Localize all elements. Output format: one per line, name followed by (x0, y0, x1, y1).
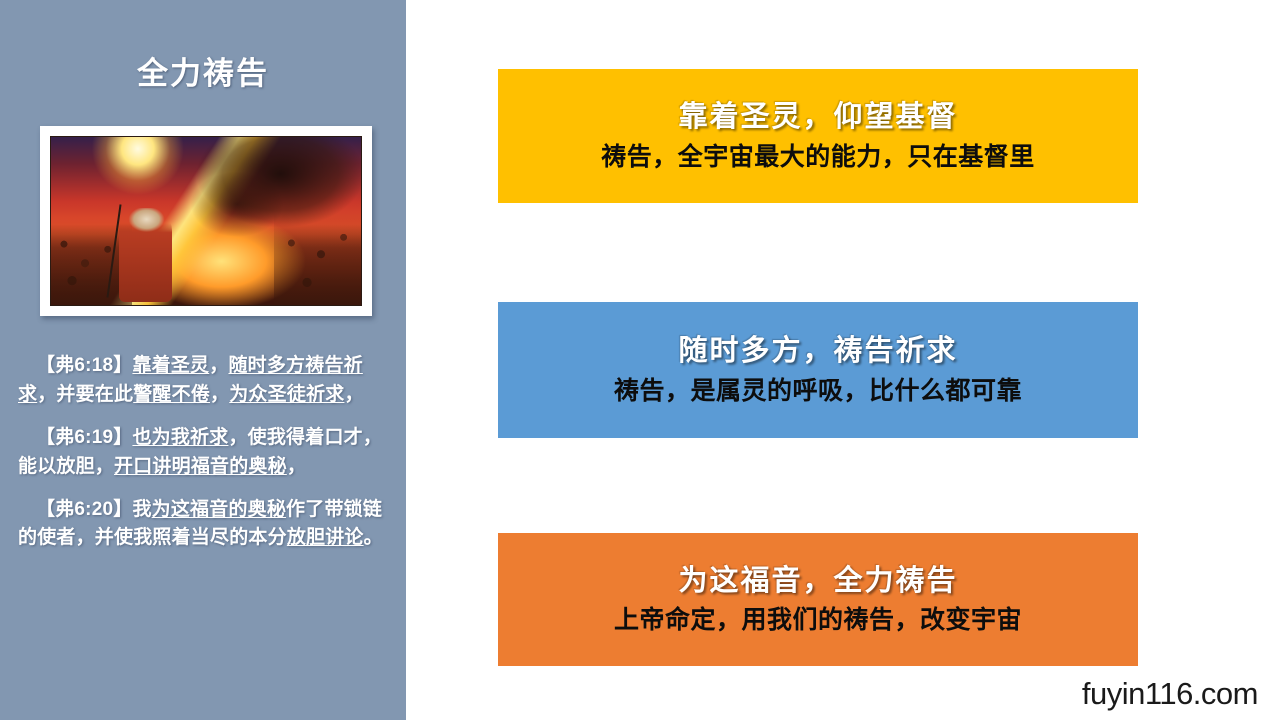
elijah-fire-from-heaven-image (50, 136, 362, 306)
scripture-reference: 【弗6:18】 (36, 355, 132, 376)
scripture-emphasis: 也为我祈求 (132, 427, 228, 448)
scripture-text-block: 【弗6:18】靠着圣灵，随时多方祷告祈求，并要在此警醒不倦，为众圣徒祈求，【弗6… (18, 352, 390, 553)
banner-heading: 随时多方，祷告祈求 (678, 333, 957, 369)
banner-subtext: 祷告，全宇宙最大的能力，只在基督里 (601, 142, 1035, 173)
scripture-reference: 【弗6:20】 (36, 499, 132, 520)
scripture-verse: 【弗6:19】也为我祈求，使我得着口才，能以放胆，开口讲明福音的奥秘， (18, 424, 390, 482)
scripture-span: ， (209, 355, 228, 376)
scripture-emphasis: 靠着圣灵 (132, 355, 209, 376)
scripture-span: 。 (364, 527, 383, 548)
scripture-span: ， (344, 384, 363, 405)
prophet-figure-icon (119, 208, 172, 302)
scripture-emphasis: 警醒不倦 (133, 384, 210, 405)
scripture-emphasis: 开口讲明福音的奥秘 (114, 456, 287, 477)
scripture-emphasis: 放胆讲论 (287, 527, 364, 548)
scripture-emphasis: 为众圣徒祈求 (229, 384, 344, 405)
banner-heading: 靠着圣灵，仰望基督 (678, 99, 957, 135)
site-watermark: fuyin116.com (1082, 676, 1258, 712)
banner-subtext: 祷告，是属灵的呼吸，比什么都可靠 (614, 376, 1022, 407)
scripture-span: 我 (132, 499, 151, 520)
banner-subtext: 上帝命定，用我们的祷告，改变宇宙 (614, 605, 1022, 636)
scripture-span: ， (210, 384, 229, 405)
scripture-span: ， (287, 456, 306, 477)
banner-heading: 为这福音，全力祷告 (678, 563, 957, 599)
banner-always-pray: 随时多方，祷告祈求 祷告，是属灵的呼吸，比什么都可靠 (498, 302, 1138, 438)
page-title: 全力祷告 (0, 0, 406, 89)
banner-gospel-pray: 为这福音，全力祷告 上帝命定，用我们的祷告，改变宇宙 (498, 533, 1138, 666)
scripture-verse: 【弗6:20】我为这福音的奥秘作了带锁链的使者，并使我照着当尽的本分放胆讲论。 (18, 496, 390, 554)
scripture-span: ，并要在此 (37, 384, 133, 405)
scripture-reference: 【弗6:19】 (36, 427, 132, 448)
banner-spirit-christ: 靠着圣灵，仰望基督 祷告，全宇宙最大的能力，只在基督里 (498, 69, 1138, 203)
scripture-emphasis: 为这福音的奥秘 (152, 499, 286, 520)
scripture-verse: 【弗6:18】靠着圣灵，随时多方祷告祈求，并要在此警醒不倦，为众圣徒祈求， (18, 352, 390, 410)
scripture-illustration-frame (40, 126, 372, 316)
left-sidebar-panel: 全力祷告 【弗6:18】靠着圣灵，随时多方祷告祈求，并要在此警醒不倦，为众圣徒祈… (0, 0, 406, 720)
